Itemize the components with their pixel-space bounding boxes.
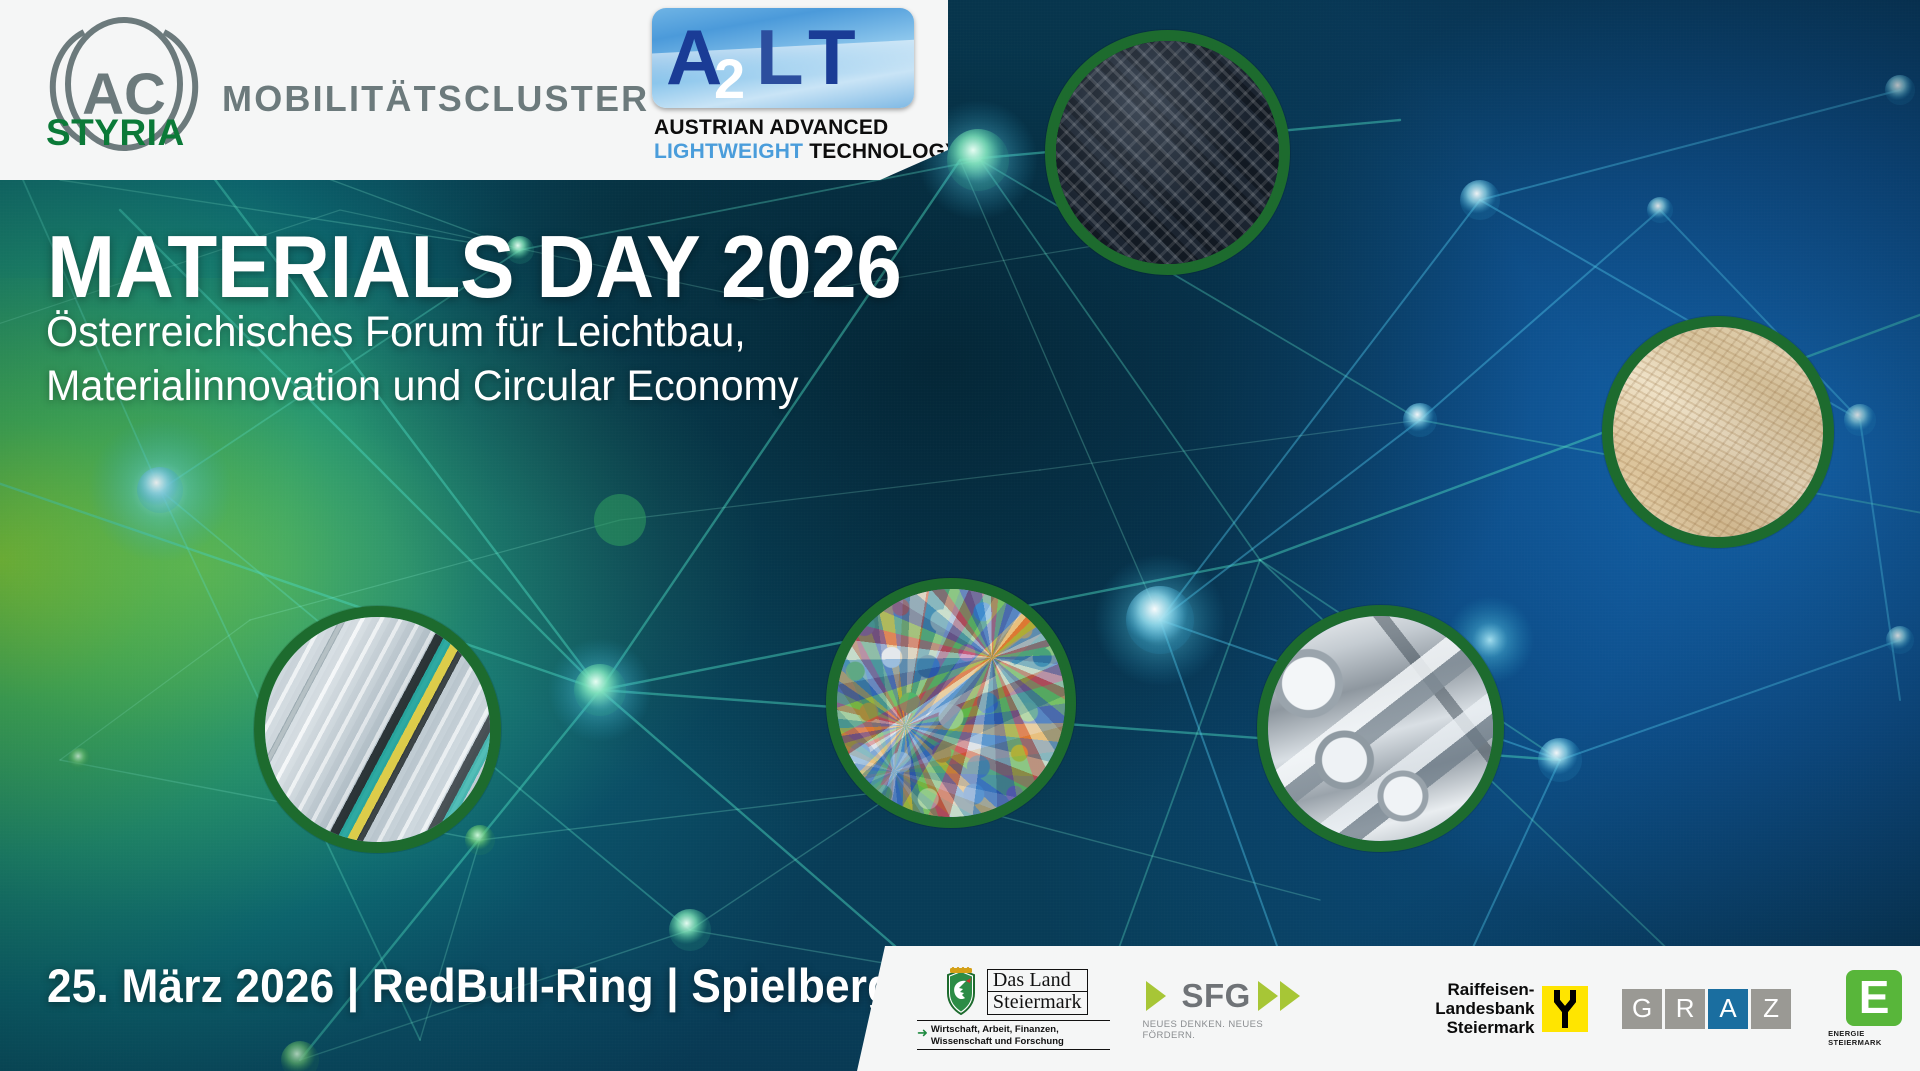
mobilitaetscluster-label: MOBILITÄTSCLUSTER — [222, 78, 649, 120]
sponsor-raiffeisen: Raiffeisen-Landesbank Steiermark — [1350, 980, 1588, 1037]
graz-letter-z: Z — [1751, 989, 1791, 1029]
graz-letter-r: R — [1665, 989, 1705, 1029]
a2lt-tagline-line2: LIGHTWEIGHT TECHNOLOGY — [654, 140, 959, 164]
arrow-right-icon: ➜ — [917, 1026, 928, 1039]
land-steiermark-line1: Das Land — [987, 969, 1088, 993]
land-steiermark-department-text: Wirtschaft, Arbeit, Finanzen, Wissenscha… — [931, 1024, 1064, 1048]
department-line1: Wirtschaft, Arbeit, Finanzen, — [931, 1024, 1064, 1036]
energie-steiermark-mark: E — [1846, 970, 1902, 1026]
raiffeisen-line2: Steiermark — [1350, 1018, 1535, 1037]
subtitle-line-1: Österreichisches Forum für Leichtbau, — [46, 305, 799, 359]
sfg-logo-row: SFG — [1142, 977, 1317, 1015]
header-logo-panel: AC STYRIA MOBILITÄTSCLUSTER A 2 L T AUST… — [0, 0, 948, 180]
sfg-tagline: NEUES DENKEN. NEUES FÖRDERN. — [1142, 1019, 1317, 1041]
a2lt-logo-text: A 2 L T — [652, 8, 914, 108]
material-circle-glass-laminate — [254, 606, 501, 853]
sfg-chevron-left-icon — [1142, 978, 1176, 1014]
material-circle-osb-wood — [1602, 316, 1834, 548]
acstyria-wordmark: STYRIA — [46, 112, 185, 154]
raiffeisen-wordmark: Raiffeisen-Landesbank Steiermark — [1350, 980, 1535, 1037]
subtitle-line-2: Materialinnovation und Circular Economy — [46, 359, 799, 413]
styria-panther-crest-icon — [940, 967, 982, 1017]
event-date-venue: 25. März 2026 | RedBull-Ring | Spielberg — [47, 958, 894, 1013]
sfg-chevron-right-icon — [1256, 978, 1318, 1014]
a2lt-logo-box: A 2 L T — [652, 8, 914, 108]
aluminium-profiles-texture — [1268, 616, 1493, 841]
sponsor-graz: G R A Z — [1622, 989, 1794, 1029]
land-steiermark-department: ➜ Wirtschaft, Arbeit, Finanzen, Wissensc… — [917, 1020, 1110, 1051]
page-title: MATERIALS DAY 2026 — [47, 216, 901, 318]
carbon-fibre-texture — [1056, 41, 1279, 264]
sfg-wordmark: SFG — [1181, 977, 1250, 1015]
material-circle-aluminium-profiles — [1257, 605, 1504, 852]
a2lt-tagline-line1: AUSTRIAN ADVANCED — [654, 116, 888, 140]
material-circle-recycled-plastic — [826, 578, 1076, 828]
page-subtitle: Österreichisches Forum für Leichtbau, Ma… — [46, 305, 799, 413]
land-steiermark-line2: Steiermark — [987, 992, 1088, 1015]
osb-wood-texture — [1613, 327, 1823, 537]
raiffeisen-line1: Raiffeisen-Landesbank — [1350, 980, 1535, 1018]
graz-letter-a: A — [1708, 989, 1748, 1029]
sponsor-land-steiermark: Das Land Steiermark ➜ Wirtschaft, Arbeit… — [917, 967, 1110, 1051]
a2lt-logo: A 2 L T AUSTRIAN ADVANCED LIGHTWEIGHT TE… — [652, 8, 918, 168]
svg-text:T: T — [808, 13, 855, 101]
raiffeisen-gable-cross-icon — [1542, 986, 1588, 1032]
energie-letter-e: E — [1859, 974, 1890, 1020]
event-banner: AC STYRIA MOBILITÄTSCLUSTER A 2 L T AUST… — [0, 0, 1920, 1071]
sponsor-energie-steiermark: E ENERGIE STEIERMARK — [1828, 970, 1920, 1047]
recycled-plastic-texture — [837, 589, 1065, 817]
svg-text:2: 2 — [714, 47, 744, 108]
sponsor-sfg: SFG NEUES DENKEN. NEUES FÖRDERN. — [1142, 977, 1317, 1041]
material-circle-carbon-fibre — [1045, 30, 1290, 275]
land-steiermark-words: Das Land Steiermark — [987, 969, 1088, 1015]
sponsor-bar: Das Land Steiermark ➜ Wirtschaft, Arbeit… — [857, 946, 1920, 1071]
department-line2: Wissenschaft und Forschung — [931, 1036, 1064, 1048]
svg-text:L: L — [756, 13, 803, 101]
energie-steiermark-tagline: ENERGIE STEIERMARK — [1828, 1029, 1920, 1047]
graz-letter-g: G — [1622, 989, 1662, 1029]
glass-laminate-texture — [265, 617, 490, 842]
land-steiermark-top: Das Land Steiermark — [940, 967, 1088, 1017]
a2lt-tagline-lightweight: LIGHTWEIGHT — [654, 140, 803, 163]
